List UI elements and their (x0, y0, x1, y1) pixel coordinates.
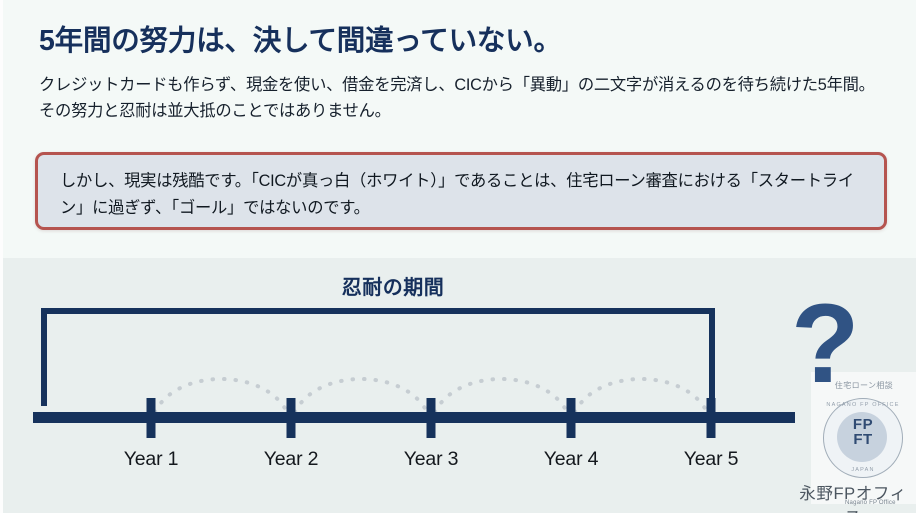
tick-year-3 (427, 398, 436, 438)
tick-year-2 (287, 398, 296, 438)
year-label-4: Year 4 (511, 448, 631, 471)
year-label-3: Year 3 (371, 448, 491, 471)
tick-year-5 (707, 398, 716, 438)
watermark: ? 住宅ローン相談 NAGANO FP OFFICE FP FT JAPAN 永… (785, 288, 916, 513)
intro-section: 5年間の努力は、決して間違っていない。 クレジットカードも作らず、現金を使い、借… (0, 0, 916, 258)
year-label-1: Year 1 (91, 448, 211, 471)
seal-bottom-text: JAPAN (824, 467, 902, 473)
seal-monogram-line2: FT (824, 432, 902, 447)
slide-root: 5年間の努力は、決して間違っていない。 クレジットカードも作らず、現金を使い、借… (0, 0, 916, 513)
callout-text: しかし、現実は残酷です。「CICが真っ白（ホワイト）」であることは、住宅ローン審… (60, 168, 866, 223)
tick-year-4 (567, 398, 576, 438)
tick-year-1 (147, 398, 156, 438)
year-label-2: Year 2 (231, 448, 351, 471)
timeline-section: 忍耐の期間 (0, 258, 916, 513)
watermark-subtitle: 住宅ローン相談 (815, 380, 913, 391)
watermark-office-name: 永野FPオフィス (791, 480, 915, 513)
page-title: 5年間の努力は、決して間違っていない。 (39, 24, 879, 60)
seal-top-text: NAGANO FP OFFICE (824, 402, 902, 408)
watermark-seal-icon: NAGANO FP OFFICE FP FT JAPAN (823, 398, 903, 478)
bracket-label: 忍耐の期間 (313, 271, 473, 300)
year-label-5: Year 5 (651, 448, 771, 471)
seal-monogram: FP FT (824, 417, 902, 448)
endurance-bracket (41, 308, 715, 406)
lead-paragraph: クレジットカードも作らず、現金を使い、借金を完済し、CICから「異動」の二文字が… (39, 72, 889, 125)
seal-monogram-line1: FP (824, 417, 902, 432)
callout-box: しかし、現実は残酷です。「CICが真っ白（ホワイト）」であることは、住宅ローン審… (35, 152, 887, 230)
watermark-office-name-sub: Nagano FP Office (845, 500, 915, 506)
